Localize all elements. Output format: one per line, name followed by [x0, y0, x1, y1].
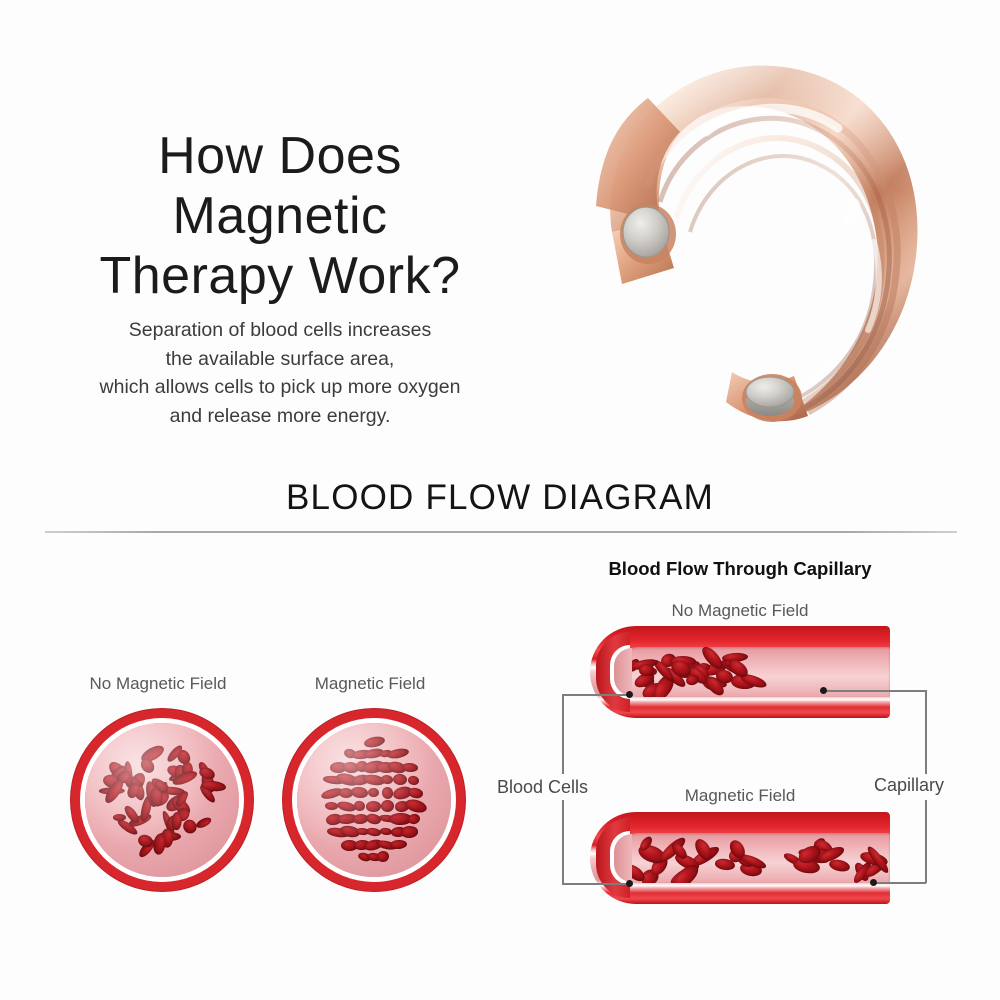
leader-dot-capillary-upper — [820, 687, 827, 694]
capillary-title: Blood Flow Through Capillary — [500, 558, 980, 580]
leader-branch-capillary-lower — [876, 882, 926, 884]
capillary-tube-magnetic-field — [590, 812, 890, 904]
title-line-1: How Does — [40, 126, 520, 186]
blood-cell — [368, 788, 380, 798]
blood-cell — [393, 774, 408, 786]
blood-cell — [377, 851, 390, 864]
leader-line-capillary-lower — [925, 800, 927, 883]
blood-cell — [366, 800, 381, 811]
blood-cell — [407, 813, 421, 826]
copper-magnetic-ring-image — [556, 36, 956, 446]
subtitle-line-1: Separation of blood cells increases — [30, 316, 530, 345]
section-divider — [45, 531, 957, 533]
capillary-label-field: Magnetic Field — [560, 786, 920, 806]
subtitle-line-2: the available surface area, — [30, 345, 530, 374]
capillary-tube-no-magnetic-field — [590, 626, 890, 718]
blood-cell — [401, 826, 419, 839]
leader-dot-blood-cells-upper — [626, 691, 633, 698]
section-title: BLOOD FLOW DIAGRAM — [0, 478, 1000, 518]
blood-cell — [381, 799, 395, 812]
blood-cell — [828, 858, 850, 873]
xsection-label-field: Magnetic Field — [270, 674, 470, 694]
leader-branch-blood-cells-upper — [562, 694, 630, 696]
leader-dot-capillary-lower — [870, 879, 877, 886]
blood-cell — [196, 816, 214, 830]
cross-section-magnetic-field — [297, 723, 451, 877]
infographic-page: How Does Magnetic Therapy Work? Separati… — [0, 0, 1000, 1000]
leader-dot-blood-cells-lower — [626, 880, 633, 887]
title-line-2: Magnetic — [40, 186, 520, 246]
xsection-label-no-field: No Magnetic Field — [58, 674, 258, 694]
blood-cell — [401, 762, 417, 772]
page-title: How Does Magnetic Therapy Work? — [40, 126, 520, 306]
subtitle-block: Separation of blood cells increases the … — [30, 316, 530, 430]
tube-end-inner — [614, 834, 632, 882]
tube-lumen — [614, 833, 890, 883]
leader-branch-blood-cells-lower — [562, 883, 630, 885]
blood-cell — [408, 786, 425, 799]
blood-cell — [407, 775, 420, 786]
cross-section-no-magnetic-field — [85, 723, 239, 877]
leader-branch-capillary-upper — [826, 690, 926, 692]
leader-line-capillary-upper — [925, 690, 927, 774]
capillary-label-no-field: No Magnetic Field — [560, 601, 920, 621]
ring-end-top — [596, 98, 680, 284]
callout-label-blood-cells: Blood Cells — [497, 777, 588, 798]
tube-end-inner — [614, 648, 632, 696]
title-line-3: Therapy Work? — [40, 246, 520, 306]
leader-line-blood-cells-upper — [562, 694, 564, 774]
ring-end-bottom — [726, 372, 808, 422]
leader-line-blood-cells-lower — [562, 800, 564, 884]
blood-cell — [351, 786, 370, 799]
blood-cell — [354, 800, 367, 812]
blood-cell — [152, 833, 167, 855]
callout-label-capillary: Capillary — [874, 775, 944, 796]
blood-cell — [171, 812, 182, 830]
subtitle-line-4: and release more energy. — [30, 402, 530, 431]
subtitle-line-3: which allows cells to pick up more oxyge… — [30, 373, 530, 402]
blood-cell — [363, 735, 385, 749]
blood-cell — [404, 797, 428, 815]
